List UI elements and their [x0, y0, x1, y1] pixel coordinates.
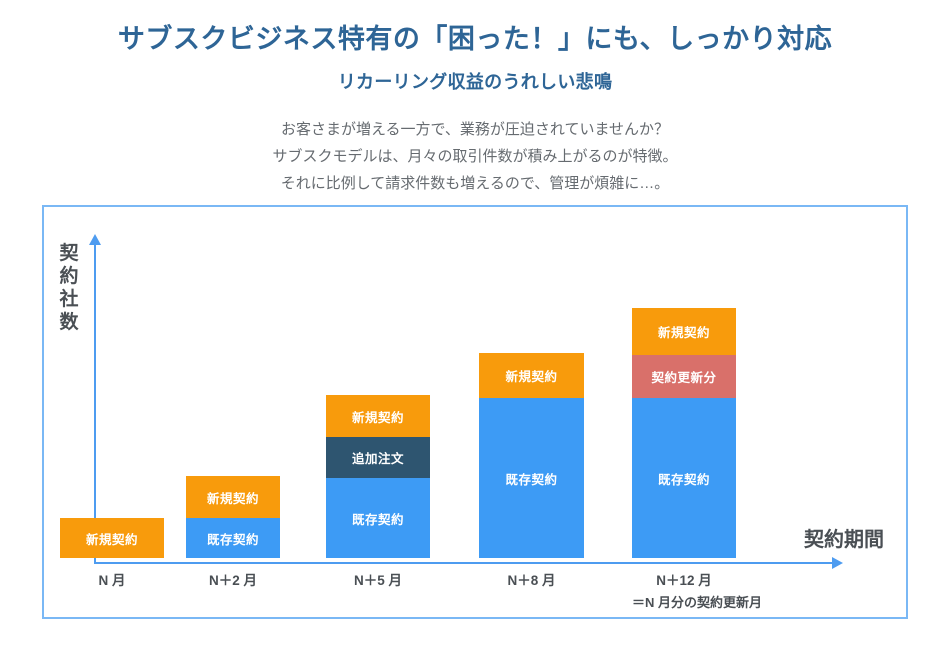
page-title: サブスクビジネス特有の「困った！」にも、しっかり対応 [0, 17, 950, 56]
x-axis-tick-5: N＋12 月＝N 月分の契約更新月 [632, 569, 736, 611]
bar-2: 新規契約既存契約 [186, 476, 280, 558]
x-axis-tick-label: N＋12 月 [656, 573, 712, 588]
y-axis-label: 契約社数 [56, 242, 82, 334]
bar-1-segment-1: 新規契約 [60, 518, 164, 558]
bar-5-segment-3: 既存契約 [632, 398, 736, 558]
x-axis-tick-label: N＋8 月 [507, 573, 555, 588]
x-axis-tick-label: N＋2 月 [209, 573, 257, 588]
bar-3-segment-3: 既存契約 [326, 478, 430, 558]
bar-2-segment-1: 新規契約 [186, 476, 280, 518]
x-axis-tick-note: ＝N 月分の契約更新月 [632, 592, 736, 611]
x-axis-tick-4: N＋8 月 [479, 569, 584, 589]
bar-4-segment-1: 新規契約 [479, 353, 584, 398]
bar-5-segment-2: 契約更新分 [632, 355, 736, 398]
x-axis-line [94, 562, 834, 564]
page-subtitle: リカーリング収益のうれしい悲鳴 [0, 68, 950, 94]
lead-paragraph: お客さまが増える一方で、業務が圧迫されていませんか？ サブスクモデルは、月々の取… [0, 116, 950, 197]
x-axis-label: 契約期間 [804, 523, 884, 552]
y-axis-arrow-icon [89, 234, 101, 245]
bar-2-segment-2: 既存契約 [186, 518, 280, 558]
lead-line-2: サブスクモデルは、月々の取引件数が積み上がるのが特徴。 [0, 143, 950, 170]
stacked-bar-chart: 契約社数 契約期間 新規契約新規契約既存契約新規契約追加注文既存契約新規契約既存… [42, 205, 908, 619]
bar-3-segment-2: 追加注文 [326, 437, 430, 478]
bar-4: 新規契約既存契約 [479, 353, 584, 558]
bar-4-segment-2: 既存契約 [479, 398, 584, 558]
x-axis-tick-3: N＋5 月 [326, 569, 430, 589]
x-axis-tick-label: N 月 [99, 573, 126, 588]
bar-3-segment-1: 新規契約 [326, 395, 430, 437]
x-axis-tick-2: N＋2 月 [186, 569, 280, 589]
bar-3: 新規契約追加注文既存契約 [326, 395, 430, 558]
x-axis-tick-label: N＋5 月 [354, 573, 402, 588]
bar-5-segment-1: 新規契約 [632, 308, 736, 355]
x-axis-tick-1: N 月 [60, 569, 164, 589]
lead-line-3: それに比例して請求件数も増えるので、管理が煩雑に…。 [0, 170, 950, 197]
y-axis-line [94, 244, 96, 564]
bar-5: 新規契約契約更新分既存契約 [632, 308, 736, 558]
lead-line-1: お客さまが増える一方で、業務が圧迫されていませんか？ [0, 116, 950, 143]
bar-1: 新規契約 [60, 518, 164, 558]
x-axis-arrow-icon [832, 557, 843, 569]
